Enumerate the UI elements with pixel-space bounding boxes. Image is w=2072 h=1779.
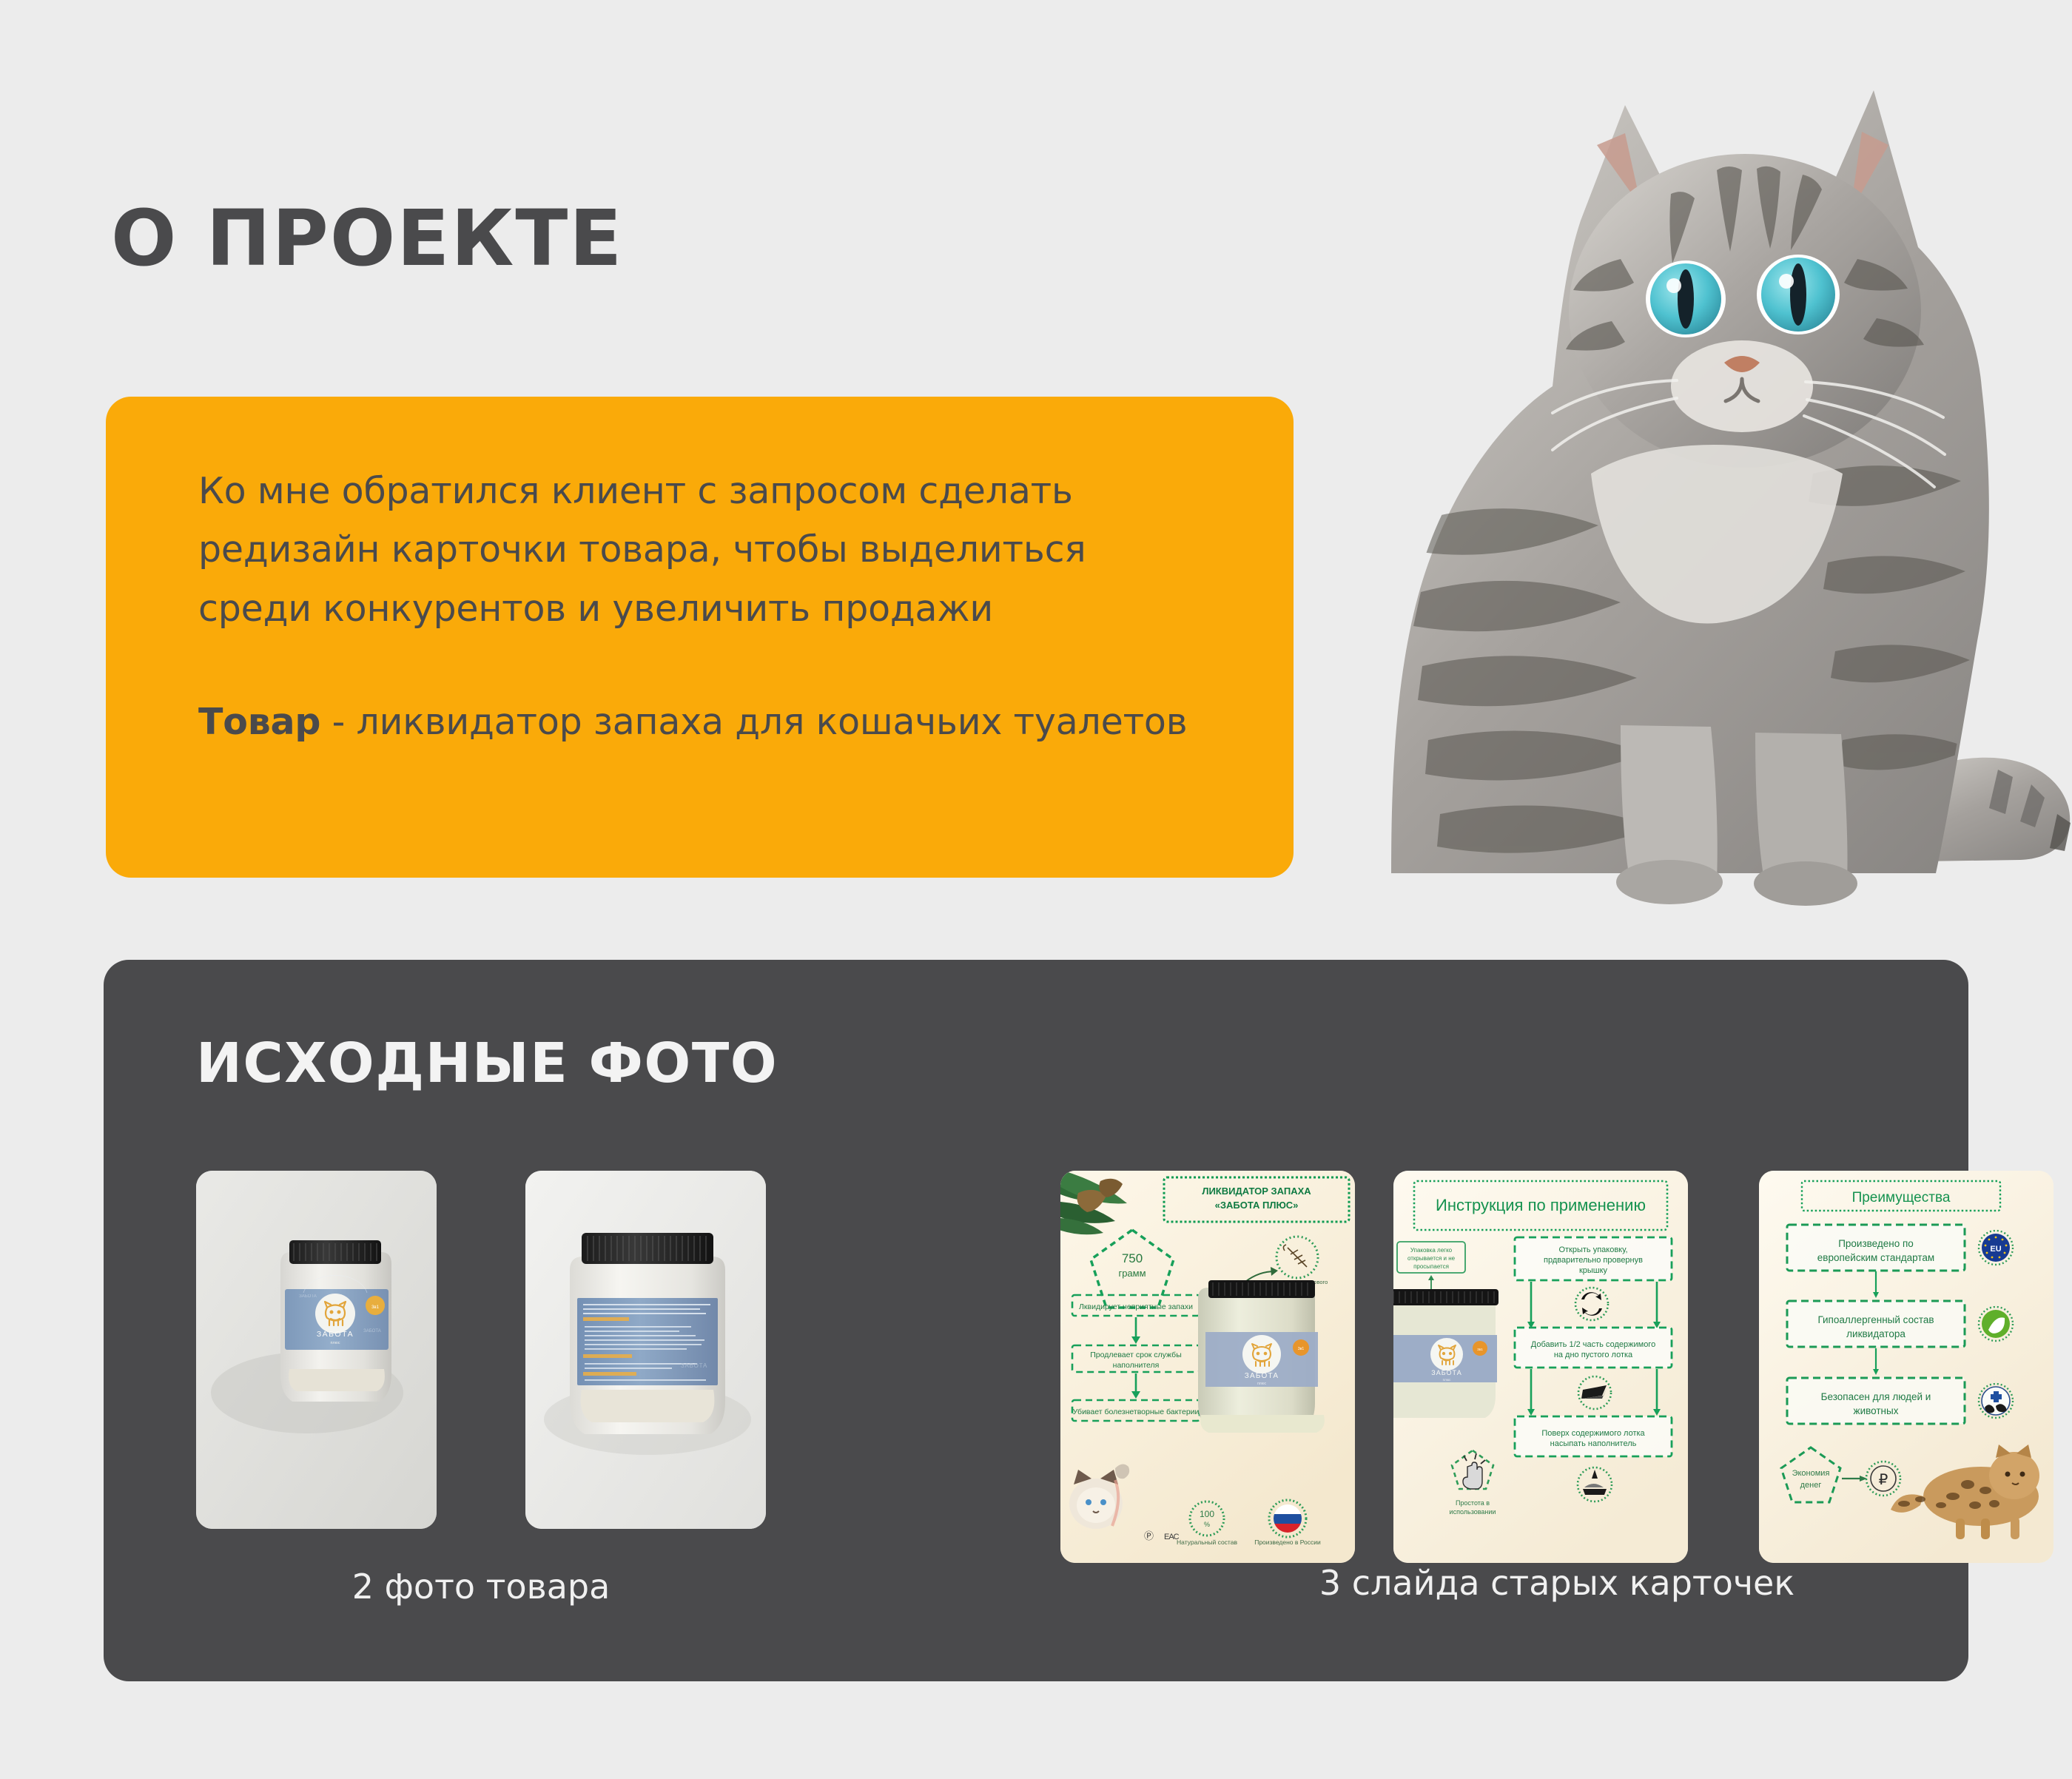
svg-text:ЗАБОТА: ЗАБОТА [299,1294,317,1299]
svg-text:Экономия: Экономия [1792,1469,1830,1478]
brief-product-text: - ликвидатор запаха для кошачьих туалето… [320,701,1187,743]
svg-text:плюс: плюс [330,1341,340,1345]
svg-text:«ЗАБОТА ПЛЮС»: «ЗАБОТА ПЛЮС» [1215,1200,1299,1211]
svg-text:ЗАБОТА: ЗАБОТА [681,1362,707,1369]
brief-paragraph: Ко мне обратился клиент с запросом сдела… [198,462,1190,638]
svg-text:EU: EU [1990,1245,2001,1254]
svg-text:прдварительно провернув: прдварительно провернув [1544,1256,1643,1265]
svg-text:%: % [1204,1521,1210,1528]
caption-photos: 2 фото товара [196,1567,766,1607]
svg-text:ЗАБОТА: ЗАБОТА [363,1329,381,1334]
old-card-slide-3[interactable]: Преимущества Произведено по европейским … [1759,1171,2053,1563]
svg-text:просыпается: просыпается [1413,1263,1449,1270]
svg-text:Инструкция по применению: Инструкция по применению [1436,1196,1646,1214]
svg-text:ЗАБОТА: ЗАБОТА [1245,1372,1279,1380]
svg-text:100: 100 [1200,1509,1214,1519]
svg-text:насыпать наполнитель: насыпать наполнитель [1550,1439,1637,1448]
old-slide-2-image: Инструкция по применению Упаковка легко … [1393,1171,1688,1563]
svg-text:Убивает болезнетворные бактери: Убивает болезнетворные бактерии [1073,1408,1200,1416]
brief-product-line: Товар - ликвидатор запаха для кошачьих т… [198,699,1249,746]
source-photos-panel: ИСХОДНЫЕ ФОТО [104,960,1968,1681]
old-card-slide-1[interactable]: ЛИКВИДАТОР ЗАПАХА «ЗАБОТА ПЛЮС» 750 грам… [1060,1171,1355,1563]
cat-illustration-icon [1206,0,2072,910]
svg-text:Гипоаллергенный состав: Гипоаллергенный состав [1817,1314,1934,1325]
svg-text:₽: ₽ [1879,1472,1888,1488]
svg-text:наполнителя: наполнителя [1113,1361,1160,1370]
page-title: О ПРОЕКТЕ [111,200,623,277]
brief-product-label: Товар [198,701,320,743]
svg-text:Лквидирует неприятные запахи: Лквидирует неприятные запахи [1079,1302,1193,1311]
svg-text:Добавить 1/2 часть содержимого: Добавить 1/2 часть содержимого [1531,1340,1655,1349]
svg-text:животных: животных [1854,1405,1899,1416]
svg-text:грамм: грамм [1118,1268,1146,1279]
product-photo-back[interactable]: ЗАБОТА [525,1171,766,1529]
jar-back-image: ЗАБОТА [525,1171,766,1529]
svg-text:Упаковка легко: Упаковка легко [1410,1247,1453,1254]
svg-text:на дно пустого лотка: на дно пустого лотка [1554,1351,1633,1359]
svg-text:плюс: плюс [1257,1382,1266,1386]
brief-card: Ко мне обратился клиент с запросом сдела… [106,397,1294,878]
svg-text:3в1: 3в1 [1298,1347,1304,1351]
svg-text:Произведено по: Произведено по [1838,1238,1914,1249]
svg-text:использовании: использовании [1450,1508,1496,1516]
svg-text:ЗАБОТА: ЗАБОТА [1431,1369,1461,1376]
svg-text:денег: денег [1800,1481,1822,1490]
old-card-slide-2[interactable]: Инструкция по применению Упаковка легко … [1393,1171,1688,1563]
cat-eye-right [1757,255,1840,334]
svg-text:Продлевает срок службы: Продлевает срок службы [1090,1351,1182,1359]
jar-front-image: 3в1 ЗАБОТА плюс ЗАБОТА ЗАБОТА [196,1171,437,1529]
svg-text:Поверх содержимого лотка: Поверх содержимого лотка [1541,1429,1645,1438]
svg-text:Ⓟ: Ⓟ [1144,1530,1154,1541]
svg-text:Преимущества: Преимущества [1852,1190,1951,1205]
svg-text:750: 750 [1122,1251,1143,1265]
old-slide-3-image: Преимущества Произведено по европейским … [1759,1171,2053,1563]
old-slide-1-image: ЛИКВИДАТОР ЗАПАХА «ЗАБОТА ПЛЮС» 750 грам… [1060,1171,1355,1563]
svg-text:открывается и не: открывается и не [1407,1255,1456,1262]
project-about-slide: О ПРОЕКТЕ Ко мне обратился клиент с запр… [0,0,2072,1779]
svg-text:3в1: 3в1 [1477,1348,1483,1351]
svg-text:ЛИКВИДАТОР ЗАПАХА: ЛИКВИДАТОР ЗАПАХА [1202,1186,1311,1197]
svg-text:крышку: крышку [1579,1266,1608,1275]
svg-text:плюс: плюс [1443,1378,1451,1382]
svg-text:ликвидатора: ликвидатора [1846,1328,1905,1339]
svg-text:Произведено в России: Произведено в России [1254,1538,1321,1546]
cat-photo [1206,0,2072,910]
source-photos-heading: ИСХОДНЫЕ ФОТО [196,1036,778,1091]
svg-text:ЗАБОТА: ЗАБОТА [317,1330,354,1339]
svg-text:Безопасен для людей и: Безопасен для людей и [1821,1391,1931,1402]
svg-text:Натуральный состав: Натуральный состав [1177,1538,1237,1546]
product-photo-front[interactable]: 3в1 ЗАБОТА плюс ЗАБОТА ЗАБОТА [196,1171,437,1529]
svg-text:Открыть упаковку,: Открыть упаковку, [1558,1245,1627,1254]
svg-text:Простота в: Простота в [1456,1499,1490,1507]
caption-slides: 3 слайда старых карточек [1060,1563,2053,1603]
svg-text:европейским стандартам: европейским стандартам [1817,1252,1934,1263]
cat-eye-left [1646,260,1726,337]
svg-text:3в1: 3в1 [371,1305,380,1310]
